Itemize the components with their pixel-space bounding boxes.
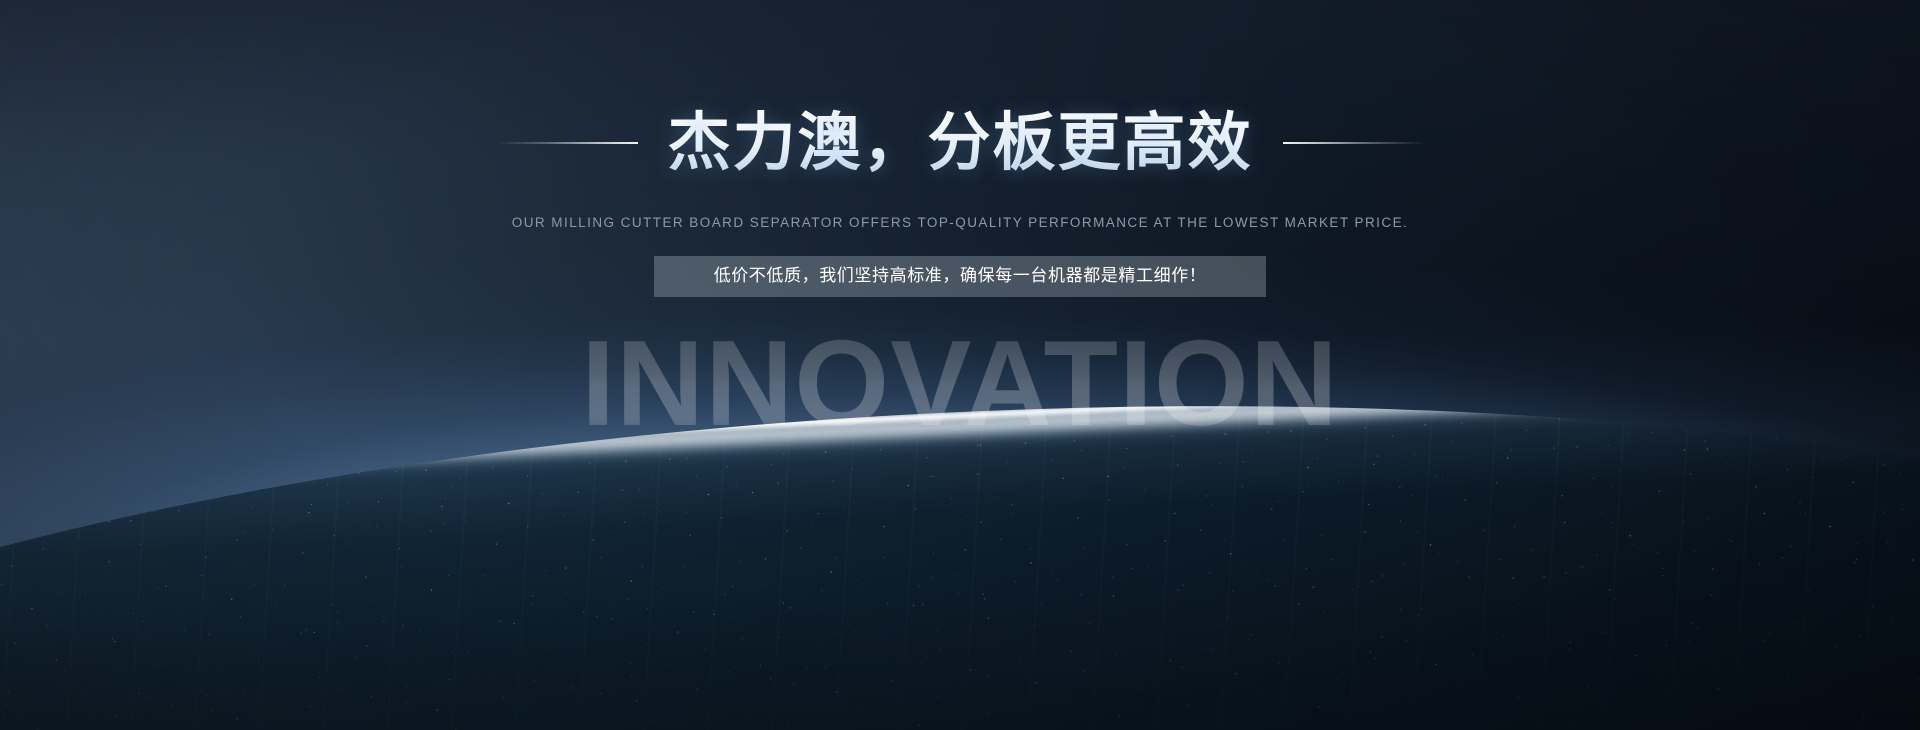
- title-rule-right-icon: [1283, 142, 1425, 144]
- title-row: 杰力澳，分板更高效: [496, 108, 1425, 179]
- title-rule-left-icon: [496, 142, 638, 144]
- hero-content: 杰力澳，分板更高效 OUR MILLING CUTTER BOARD SEPAR…: [0, 0, 1920, 297]
- hero-tagline-banner: 低价不低质，我们坚持高标准，确保每一台机器都是精工细作！: [654, 256, 1267, 297]
- page-title: 杰力澳，分板更高效: [668, 108, 1253, 179]
- hero-subtitle: OUR MILLING CUTTER BOARD SEPARATOR OFFER…: [512, 215, 1408, 230]
- hero-banner: INNOVATION 杰力澳，分板更高效 OUR MILLING CUTTER …: [0, 0, 1920, 730]
